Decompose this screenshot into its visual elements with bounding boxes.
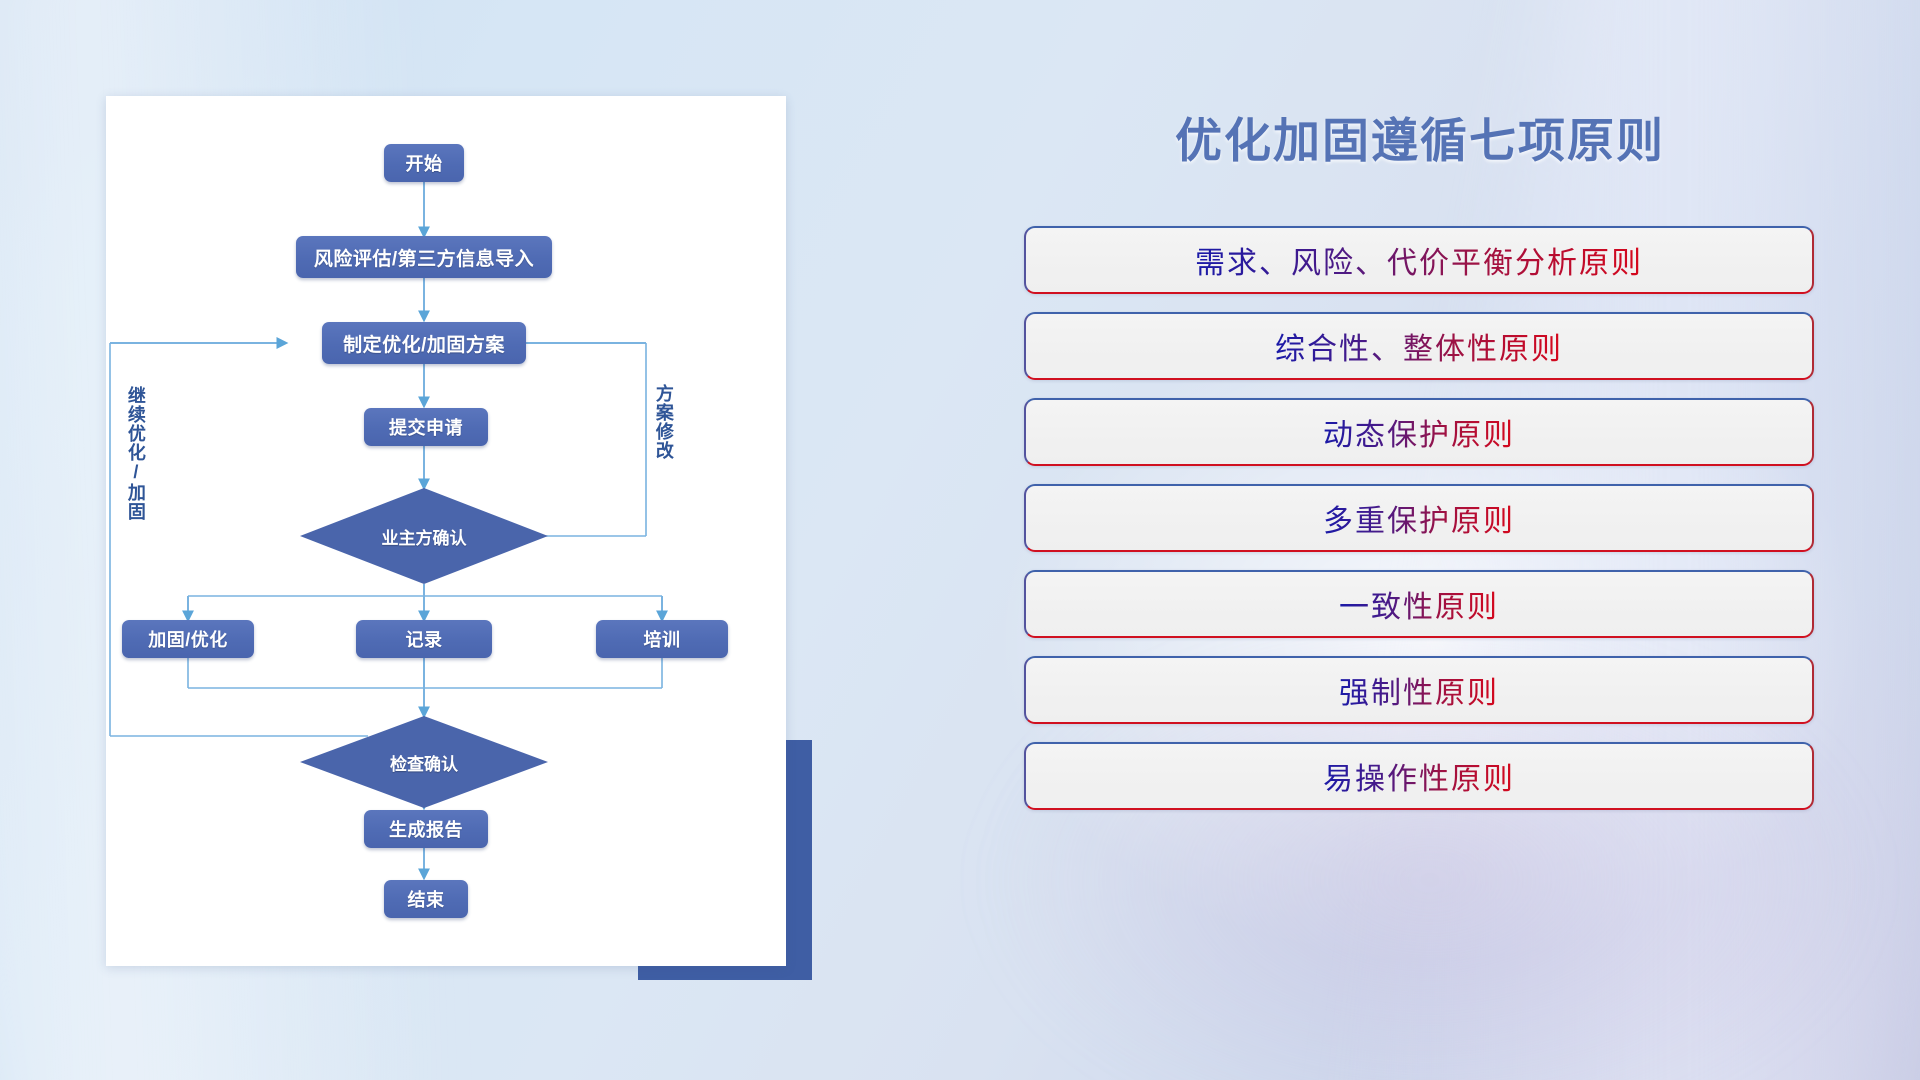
flowchart-panel: 开始 风险评估/第三方信息导入 制定优化/加固方案 提交申请 业主方确认 加固/… xyxy=(106,96,786,966)
principles-panel: 优化加固遵循七项原则 需求、风险、代价平衡分析原则 综合性、整体性原则 动态保护… xyxy=(1010,96,1830,986)
principle-card-7[interactable]: 易操作性原则 xyxy=(1024,742,1814,810)
flow-node-owner-confirm-label: 业主方确认 xyxy=(382,524,467,549)
flow-node-plan[interactable]: 制定优化/加固方案 xyxy=(322,322,526,364)
flow-node-reinforce-label: 加固/优化 xyxy=(148,626,228,652)
flow-node-record-label: 记录 xyxy=(406,626,443,652)
flow-node-submit[interactable]: 提交申请 xyxy=(364,408,488,446)
flow-node-record[interactable]: 记录 xyxy=(356,620,492,658)
principle-label-6: 强制性原则 xyxy=(1339,668,1499,712)
flow-node-submit-label: 提交申请 xyxy=(389,414,463,440)
flow-node-start[interactable]: 开始 xyxy=(384,144,464,182)
principle-card-3[interactable]: 动态保护原则 xyxy=(1024,398,1814,466)
principle-label-2: 综合性、整体性原则 xyxy=(1275,324,1563,368)
flow-node-training-label: 培训 xyxy=(644,626,681,652)
flow-node-start-label: 开始 xyxy=(406,150,443,176)
flow-node-risk-assessment[interactable]: 风险评估/第三方信息导入 xyxy=(296,236,552,278)
page-title: 优化加固遵循七项原则 xyxy=(1010,102,1830,171)
principle-card-4[interactable]: 多重保护原则 xyxy=(1024,484,1814,552)
principle-card-2[interactable]: 综合性、整体性原则 xyxy=(1024,312,1814,380)
flow-node-end[interactable]: 结束 xyxy=(384,880,468,918)
flow-node-risk-assessment-label: 风险评估/第三方信息导入 xyxy=(314,244,534,271)
principle-card-6[interactable]: 强制性原则 xyxy=(1024,656,1814,724)
flow-node-check-confirm-label: 检查确认 xyxy=(390,750,458,775)
flow-node-report-label: 生成报告 xyxy=(389,816,463,842)
flow-node-check-confirm[interactable]: 检查确认 xyxy=(300,716,548,808)
principle-label-4: 多重保护原则 xyxy=(1323,496,1515,540)
principle-card-5[interactable]: 一致性原则 xyxy=(1024,570,1814,638)
principle-label-1: 需求、风险、代价平衡分析原则 xyxy=(1195,238,1643,282)
flow-edge-label-left-loop: 继续优化/加固 xyxy=(126,386,145,521)
flow-node-owner-confirm[interactable]: 业主方确认 xyxy=(300,488,548,584)
flow-edge-label-right-loop: 方案修改 xyxy=(654,384,673,460)
principle-label-7: 易操作性原则 xyxy=(1323,754,1515,798)
principle-card-1[interactable]: 需求、风险、代价平衡分析原则 xyxy=(1024,226,1814,294)
flow-node-report[interactable]: 生成报告 xyxy=(364,810,488,848)
slide-canvas: 开始 风险评估/第三方信息导入 制定优化/加固方案 提交申请 业主方确认 加固/… xyxy=(0,0,1920,1080)
flow-node-training[interactable]: 培训 xyxy=(596,620,728,658)
flow-node-end-label: 结束 xyxy=(408,886,445,912)
flow-node-reinforce[interactable]: 加固/优化 xyxy=(122,620,254,658)
principle-label-5: 一致性原则 xyxy=(1339,582,1499,626)
flow-node-plan-label: 制定优化/加固方案 xyxy=(343,330,505,357)
principles-list: 需求、风险、代价平衡分析原则 综合性、整体性原则 动态保护原则 多重保护原则 一… xyxy=(1024,226,1814,828)
principle-label-3: 动态保护原则 xyxy=(1323,410,1515,454)
